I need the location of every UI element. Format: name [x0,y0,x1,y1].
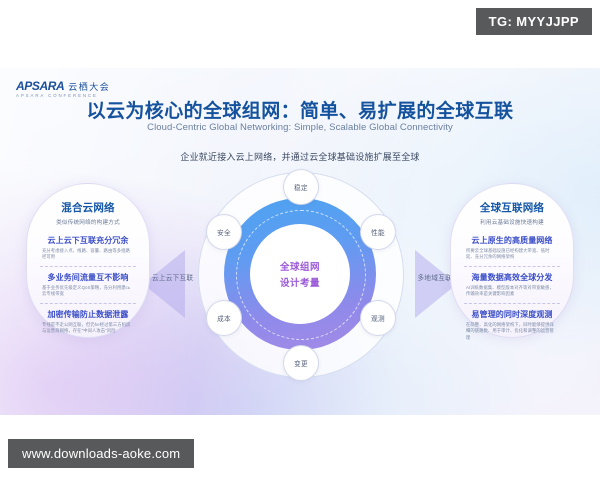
apsara-logo-cn: 云栖大会 [68,83,110,92]
diagram-node-performance: 性能 [360,214,396,250]
right-item-desc: AI训练数据集、模型版本对齐等对带宽敏感，传输效率是关键影响因素 [466,285,558,298]
right-item-title: 海量数据高效全球分发 [466,272,558,283]
diagram-node-change: 变更 [283,345,319,381]
tg-watermark-badge: TG: MYYJJPP [476,8,592,35]
left-card-item-list: 云上云下互联充分冗余 充分考虑接入点、线路、容量、路由等多组路径可用 多业务间流… [40,235,136,335]
apsara-logo-row: APSARA 云栖大会 [16,80,110,92]
left-item-desc: 专线是不走公网互联，但仍he经过第三方机房与运营商网络，存在"中间人攻击"风险 [42,322,134,335]
list-item: 云上云下互联充分冗余 充分考虑接入点、线路、容量、路由等多组路径可用 [40,235,136,261]
left-item-desc: 充分考虑接入点、线路、容量、路由等多组路径可用 [42,248,134,261]
list-item: 云上原生的高质量网络 所要云全球基础设施已经构建大带宽、低时延、充分冗余的网络架… [464,235,560,261]
right-item-title: 云上原生的高质量网络 [466,235,558,246]
presentation-slide: APSARA 云栖大会 APSARA CONFERENCE 以云为核心的全球组网… [0,68,600,415]
apsara-logo-mark: APSARA [16,80,64,92]
left-card-inner: 混合云网络 类似传统网络的构建方式 云上云下互联充分冗余 充分考虑接入点、线路、… [27,184,149,335]
diagram-node-security: 安全 [206,214,242,250]
right-card-inner: 全球互联网络 利用云基础设施快速构建 云上原生的高质量网络 所要云全球基础设施已… [451,184,573,341]
left-item-title: 加密传输防止数据泄露 [42,309,134,320]
list-item: 多业务间流量互不影响 基于业务优先级定义QoS策略，充分利用建сь云专线带宽 [40,266,136,298]
slide-title: 以云为核心的全球组网：简单、易扩展的全球互联 [0,96,600,123]
right-item-desc: 在简整、高化的网络架构下，同时能够提供详细的链路数、用于审计、优化和调整的运营管… [466,322,558,341]
list-item: 易管理的同时深度观测 在简整、高化的网络架构下，同时能够提供详细的链路数、用于审… [464,303,560,341]
ring-center-line1: 全球组网 [280,259,320,273]
diagram-node-observability: 观测 [360,300,396,336]
right-card-heading: 全球互联网络 [464,200,560,215]
diagram-node-stability: 稳定 [283,169,319,205]
right-item-title: 易管理的同时深度观测 [466,309,558,320]
ring-center-label: 全球组网 设计考量 [250,224,350,324]
slide-subtitle-english: Cloud-Centric Global Networking: Simple,… [0,122,600,133]
hybrid-cloud-network-card: 混合云网络 类似传统网络的构建方式 云上云下互联充分冗余 充分考虑接入点、线路、… [26,183,150,338]
ring-center-line2: 设计考量 [280,275,320,289]
right-item-desc: 所要云全球基础设施已经构建大带宽、低时延、充分冗余的网络架构 [466,248,558,261]
slide-page: TG: MYYJJPP APSARA 云栖大会 APSARA CONFERENC… [0,0,600,480]
diagram-node-cost: 成本 [206,300,242,336]
right-arrow-label: 多地域互联 [418,272,452,282]
list-item: 海量数据高效全球分发 AI训练数据集、模型版本对齐等对带宽敏感，传输效率是关键影… [464,266,560,298]
list-item: 加密传输防止数据泄露 专线是不走公网互联，但仍he经过第三方机房与运营商网络，存… [40,303,136,335]
right-card-subheading: 利用云基础设施快速构建 [464,218,560,226]
left-card-subheading: 类似传统网络的构建方式 [40,218,136,226]
site-watermark-badge: www.downloads-aoke.com [8,439,194,468]
right-card-item-list: 云上原生的高质量网络 所要云全球基础设施已经构建大带宽、低时延、充分冗余的网络架… [464,235,560,341]
design-considerations-diagram: 全球组网 设计考量 稳定 性能 观测 变更 成本 安全 [198,172,402,376]
left-item-title: 多业务间流量互不影响 [42,272,134,283]
global-interconnect-network-card: 全球互联网络 利用云基础设施快速构建 云上原生的高质量网络 所要云全球基础设施已… [450,183,574,338]
left-card-heading: 混合云网络 [40,200,136,215]
left-arrow-label: 云上云下互联 [152,272,193,282]
slide-lead-text: 企业就近接入云上网络，并通过云全球基础设施扩展至全球 [0,150,600,163]
left-item-title: 云上云下互联充分冗余 [42,235,134,246]
left-item-desc: 基于业务优先级定义QoS策略，充分利用建сь云专线带宽 [42,285,134,298]
